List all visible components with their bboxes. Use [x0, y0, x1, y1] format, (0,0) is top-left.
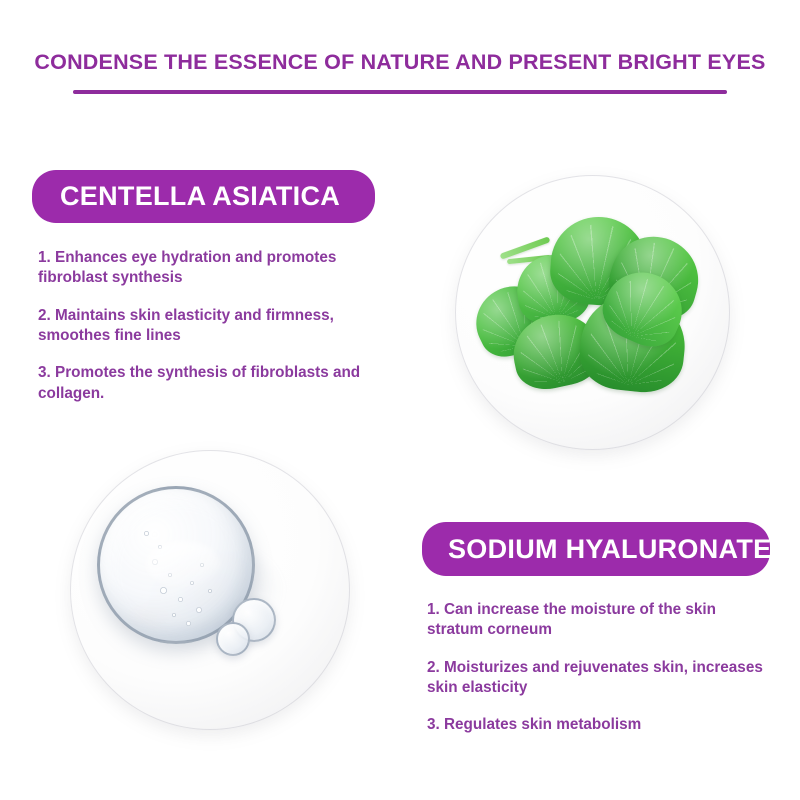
- point-item: 1. Can increase the moisture of the skin…: [427, 600, 767, 641]
- badge-centella-label: CENTELLA ASIATICA: [60, 181, 340, 212]
- points-centella-asiatica: 1. Enhances eye hydration and promotes f…: [38, 248, 388, 404]
- header-divider: [73, 90, 727, 94]
- badge-sodium-label: SODIUM HYALURONATE: [448, 534, 771, 565]
- micro-bubble: [208, 589, 212, 593]
- droplet-highlight: [146, 541, 220, 587]
- micro-bubble: [196, 607, 202, 613]
- droplet-cluster: [70, 450, 350, 730]
- points-sodium-hyaluronate: 1. Can increase the moisture of the skin…: [427, 600, 767, 736]
- serum-droplet-photo: [70, 450, 350, 730]
- page-title: CONDENSE THE ESSENCE OF NATURE AND PRESE…: [0, 50, 800, 75]
- point-item: 2. Maintains skin elasticity and firmnes…: [38, 306, 388, 347]
- point-item: 1. Enhances eye hydration and promotes f…: [38, 248, 388, 289]
- point-item: 2. Moisturizes and rejuvenates skin, inc…: [427, 658, 767, 699]
- product-ingredient-infographic: CONDENSE THE ESSENCE OF NATURE AND PRESE…: [0, 0, 800, 800]
- point-item: 3. Regulates skin metabolism: [427, 715, 767, 735]
- micro-bubble: [178, 597, 183, 602]
- micro-bubble: [144, 531, 149, 536]
- point-item: 3. Promotes the synthesis of fibroblasts…: [38, 363, 388, 404]
- micro-bubble: [160, 587, 167, 594]
- badge-sodium-hyaluronate: SODIUM HYALURONATE: [422, 522, 770, 576]
- header: CONDENSE THE ESSENCE OF NATURE AND PRESE…: [0, 50, 800, 75]
- micro-bubble: [186, 621, 191, 626]
- micro-bubble: [172, 613, 176, 617]
- centella-leaves-photo: [455, 175, 730, 450]
- badge-centella-asiatica: CENTELLA ASIATICA: [32, 170, 375, 223]
- leaf-cluster: [455, 175, 730, 450]
- droplet-satellite: [216, 622, 250, 656]
